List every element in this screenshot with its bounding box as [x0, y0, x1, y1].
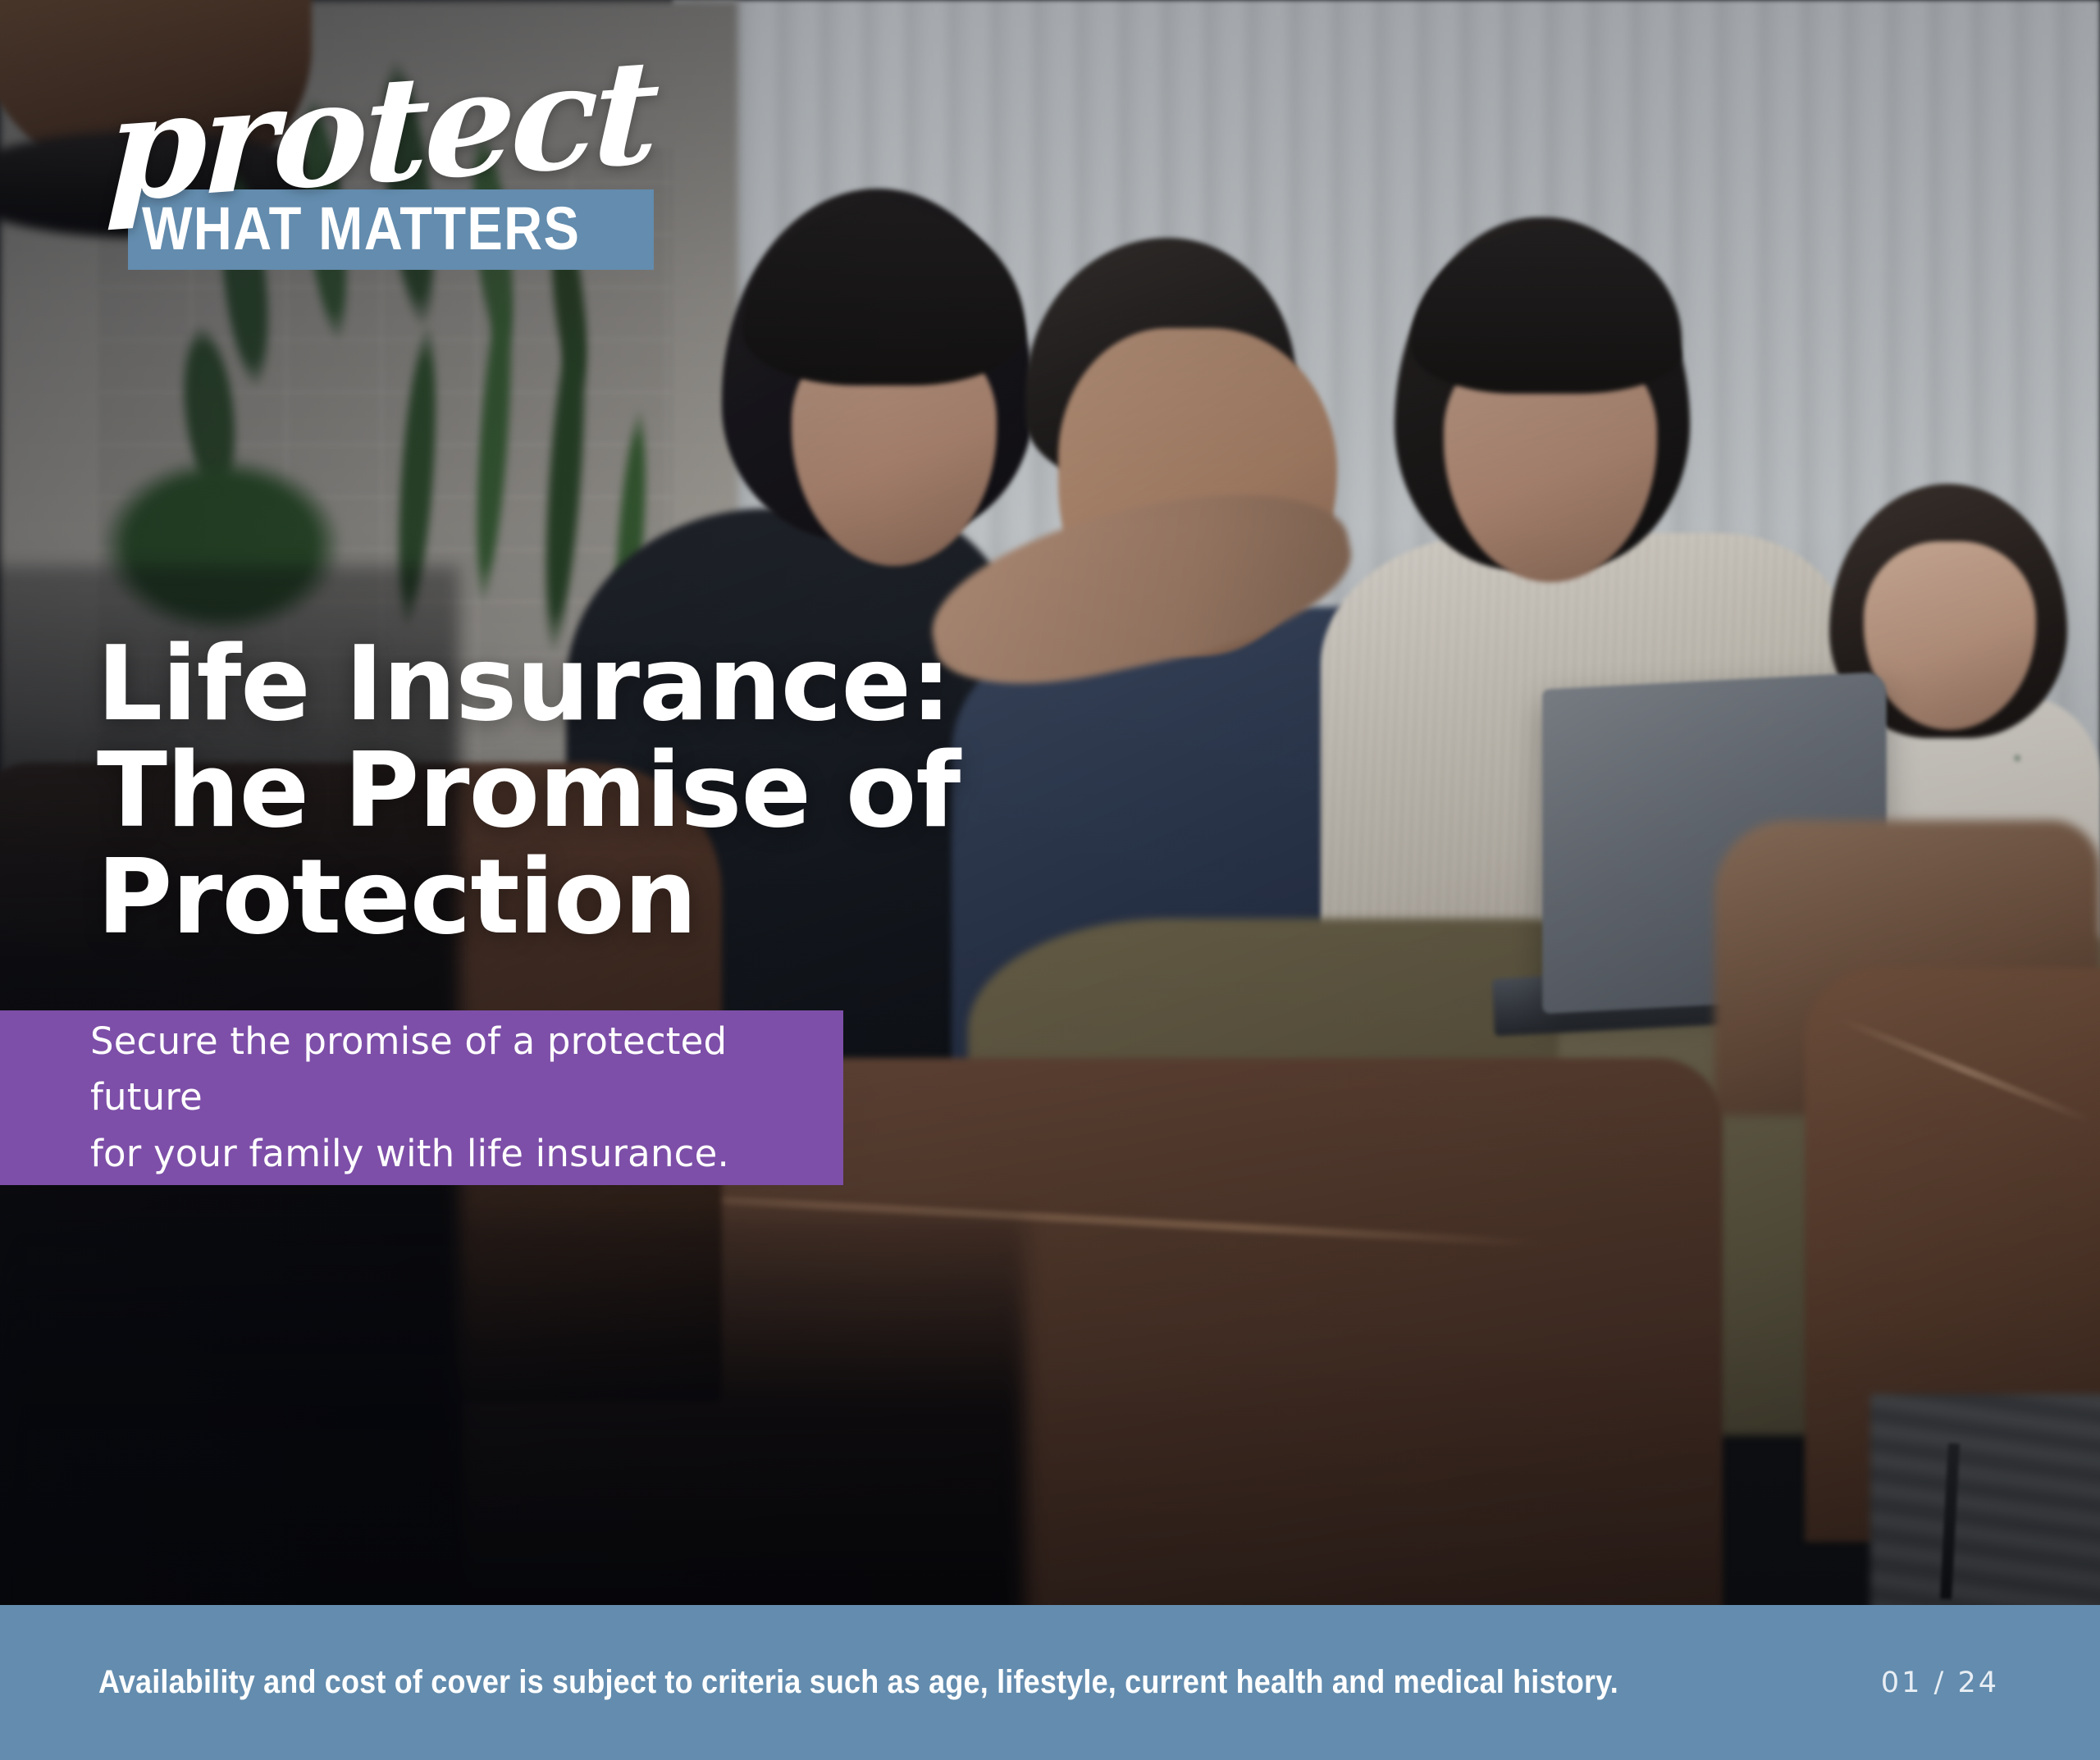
- subtitle-text: Secure the promise of a protected future…: [0, 1014, 843, 1182]
- slide-root: protect WHAT MATTERS Life Insurance: The…: [0, 0, 2100, 1760]
- footer-disclaimer: Availability and cost of cover is subjec…: [98, 1664, 1618, 1701]
- logo-script-word: protect: [105, 52, 657, 212]
- page-number: 01 / 24: [1881, 1667, 1999, 1699]
- footer-bar: Availability and cost of cover is subjec…: [0, 1605, 2100, 1760]
- logo-band-word: WHAT MATTERS: [142, 198, 580, 259]
- brand-logo: protect WHAT MATTERS: [97, 90, 654, 270]
- slide-headline: Life Insurance: The Promise of Protectio…: [97, 631, 960, 950]
- subtitle-callout-box: Secure the promise of a protected future…: [0, 1010, 843, 1185]
- photo-shadow-bottom: [0, 1214, 1025, 1640]
- logo-band: WHAT MATTERS: [128, 189, 654, 270]
- photo-floor: [1870, 1394, 2100, 1616]
